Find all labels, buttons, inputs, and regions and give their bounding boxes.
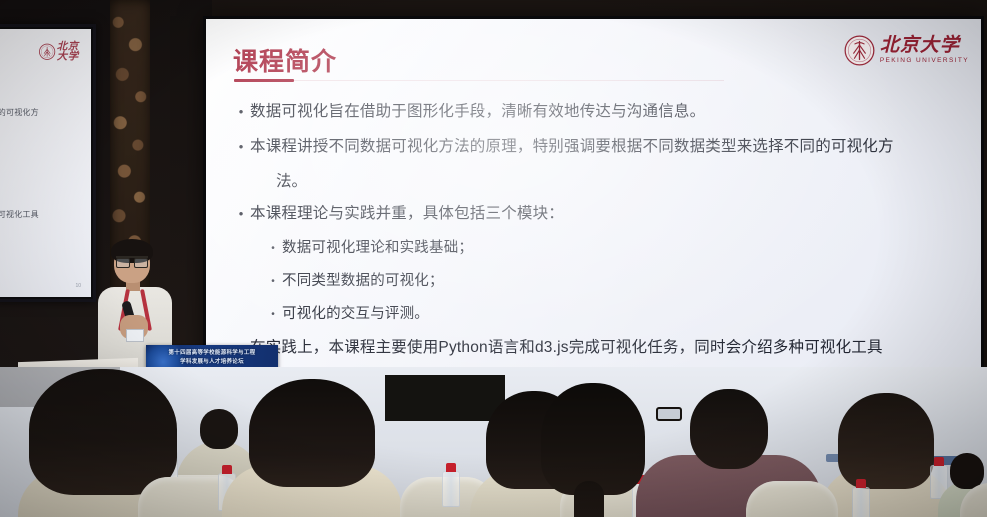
bullet-item: • 数据可视化旨在借助于图形化手段，清晰有效地传达与沟通信息。 bbox=[232, 99, 963, 125]
water-bottle bbox=[442, 471, 460, 507]
side-monitor-wordmark: 北京大学 bbox=[57, 41, 87, 62]
sub-bullet-text: 可视化的交互与评测。 bbox=[282, 302, 429, 327]
speaker-glasses-icon bbox=[116, 256, 148, 266]
sub-bullet-item: • 不同类型数据的可视化； bbox=[264, 269, 963, 295]
podium-banner-line-1: 第十四届高等学校能源科学与工程 bbox=[146, 348, 278, 356]
audience-person-hair bbox=[29, 369, 177, 495]
side-monitor-logo: 北京大学 bbox=[39, 41, 87, 62]
audience-person-hair bbox=[541, 383, 645, 495]
side-monitor-fragment-1: 选择不同的可视化方 bbox=[0, 107, 39, 118]
slide-title: 课程简介 bbox=[233, 42, 337, 78]
bullet-item: • 本课程理论与实践并重，具体包括三个模块： bbox=[232, 201, 963, 227]
bullet-marker: • bbox=[232, 201, 250, 227]
title-underline-faint bbox=[294, 80, 724, 81]
audience-person-head bbox=[690, 389, 768, 469]
pku-logo-en: PEKING UNIVERSITY bbox=[880, 58, 969, 65]
side-monitor: 北京大学 选择不同的可视化方 介绍多种可视化工具 10 bbox=[0, 24, 96, 302]
sub-bullet-item: • 可视化的交互与评测。 bbox=[264, 302, 963, 328]
bullet-marker: • bbox=[264, 269, 282, 295]
side-monitor-fragment-2: 介绍多种可视化工具 bbox=[0, 209, 39, 220]
bullet-marker: • bbox=[232, 99, 250, 125]
water-bottle bbox=[852, 487, 870, 517]
bullet-text: 在实践上，本课程主要使用Python语言和d3.js完成可视化任务，同时会介绍多… bbox=[250, 335, 883, 361]
sub-bullet-item: • 数据可视化理论和实践基础； bbox=[264, 236, 963, 262]
bullet-text: 本课程讲授不同数据可视化方法的原理，特别强调要根据不同数据类型来选择不同的可视化… bbox=[250, 134, 894, 160]
pku-seal-icon bbox=[844, 35, 875, 66]
side-monitor-page-number: 10 bbox=[75, 283, 81, 289]
bullet-marker: • bbox=[264, 302, 282, 328]
pku-wordmark: 北京大学 PEKING UNIVERSITY bbox=[880, 36, 969, 65]
bullet-text: 数据可视化旨在借助于图形化手段，清晰有效地传达与沟通信息。 bbox=[250, 99, 705, 125]
bullet-marker: • bbox=[264, 236, 282, 262]
sub-bullet-text: 数据可视化理论和实践基础； bbox=[282, 236, 473, 261]
bullet-item: • 本课程讲授不同数据可视化方法的原理，特别强调要根据不同数据类型来选择不同的可… bbox=[232, 134, 963, 160]
audience-chair bbox=[746, 481, 838, 517]
title-underline bbox=[234, 79, 294, 82]
pku-logo: 北京大学 PEKING UNIVERSITY bbox=[844, 35, 969, 66]
pku-logo-cn: 北京大学 bbox=[880, 36, 969, 55]
side-monitor-logo-cn: 北京大学 bbox=[57, 41, 87, 62]
audience-person-ponytail bbox=[574, 481, 604, 517]
bullet-text: 本课程理论与实践并重，具体包括三个模块： bbox=[250, 201, 564, 227]
audience-person bbox=[222, 385, 402, 517]
audience-person-hair bbox=[249, 379, 375, 487]
side-monitor-screen: 北京大学 选择不同的可视化方 介绍多种可视化工具 10 bbox=[0, 29, 91, 297]
speaker-badge bbox=[126, 329, 144, 342]
podium-banner-line-2: 学科发展与人才培养论坛 bbox=[146, 357, 278, 365]
sub-bullet-text: 不同类型数据的可视化； bbox=[282, 269, 444, 294]
audience-area bbox=[0, 367, 987, 517]
lecture-hall-scene: 北京大学 选择不同的可视化方 介绍多种可视化工具 10 课程简介 bbox=[0, 0, 987, 517]
bullet-marker: • bbox=[232, 134, 250, 160]
pku-seal-icon bbox=[39, 43, 56, 60]
bullet-wrap-line: 法。 bbox=[276, 169, 963, 195]
audience-person bbox=[518, 381, 668, 517]
audience-person-head bbox=[950, 453, 984, 489]
bullet-item: • 在实践上，本课程主要使用Python语言和d3.js完成可视化任务，同时会介… bbox=[232, 335, 963, 361]
audience-person-hair bbox=[838, 393, 934, 489]
